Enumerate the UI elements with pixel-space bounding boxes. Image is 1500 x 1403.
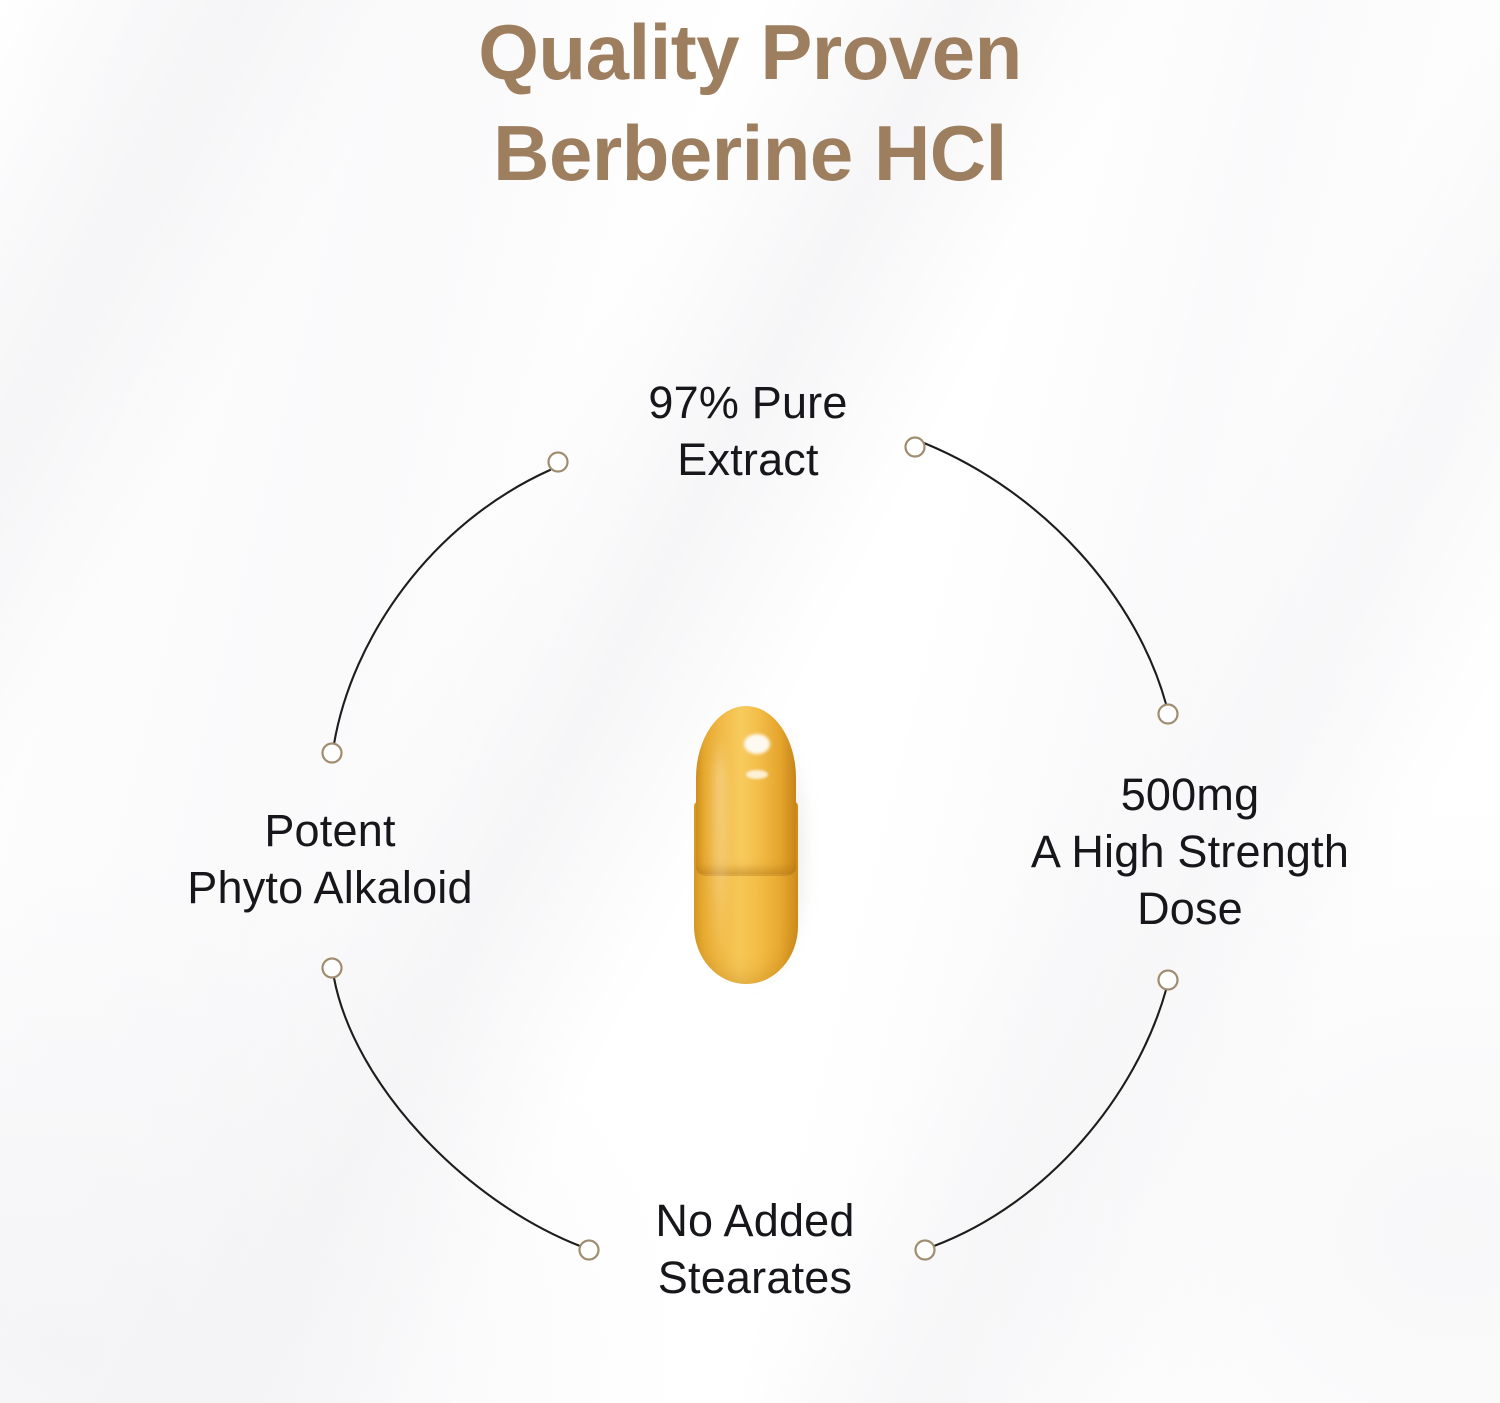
node-purity-left bbox=[549, 453, 568, 472]
page-title-line-1: Quality Proven bbox=[0, 2, 1500, 103]
page-title-line-2: Berberine HCl bbox=[0, 103, 1500, 204]
berberine-capsule-image bbox=[694, 706, 802, 984]
node-alkaloid-bottom bbox=[323, 959, 342, 978]
node-dose-bottom bbox=[1159, 971, 1178, 990]
capsule-cap bbox=[696, 706, 796, 874]
page-title: Quality Proven Berberine HCl bbox=[0, 0, 1500, 204]
node-alkaloid-top bbox=[323, 744, 342, 763]
arc-bottom-left bbox=[334, 978, 580, 1246]
capsule-seam bbox=[696, 864, 796, 876]
capsule-gloss-strip bbox=[712, 730, 727, 966]
feature-label-stearates: No Added Stearates bbox=[590, 1192, 920, 1306]
arc-top-right bbox=[924, 443, 1166, 704]
feature-label-purity: 97% Pure Extract bbox=[568, 374, 928, 488]
node-dose-top bbox=[1159, 705, 1178, 724]
feature-label-alkaloid: Potent Phyto Alkaloid bbox=[120, 802, 540, 916]
arc-top-left bbox=[334, 470, 550, 744]
capsule-highlight bbox=[744, 734, 770, 754]
feature-label-dose: 500mg A High Strength Dose bbox=[990, 766, 1390, 937]
capsule-highlight-secondary bbox=[746, 770, 768, 779]
arc-bottom-right bbox=[934, 990, 1166, 1246]
